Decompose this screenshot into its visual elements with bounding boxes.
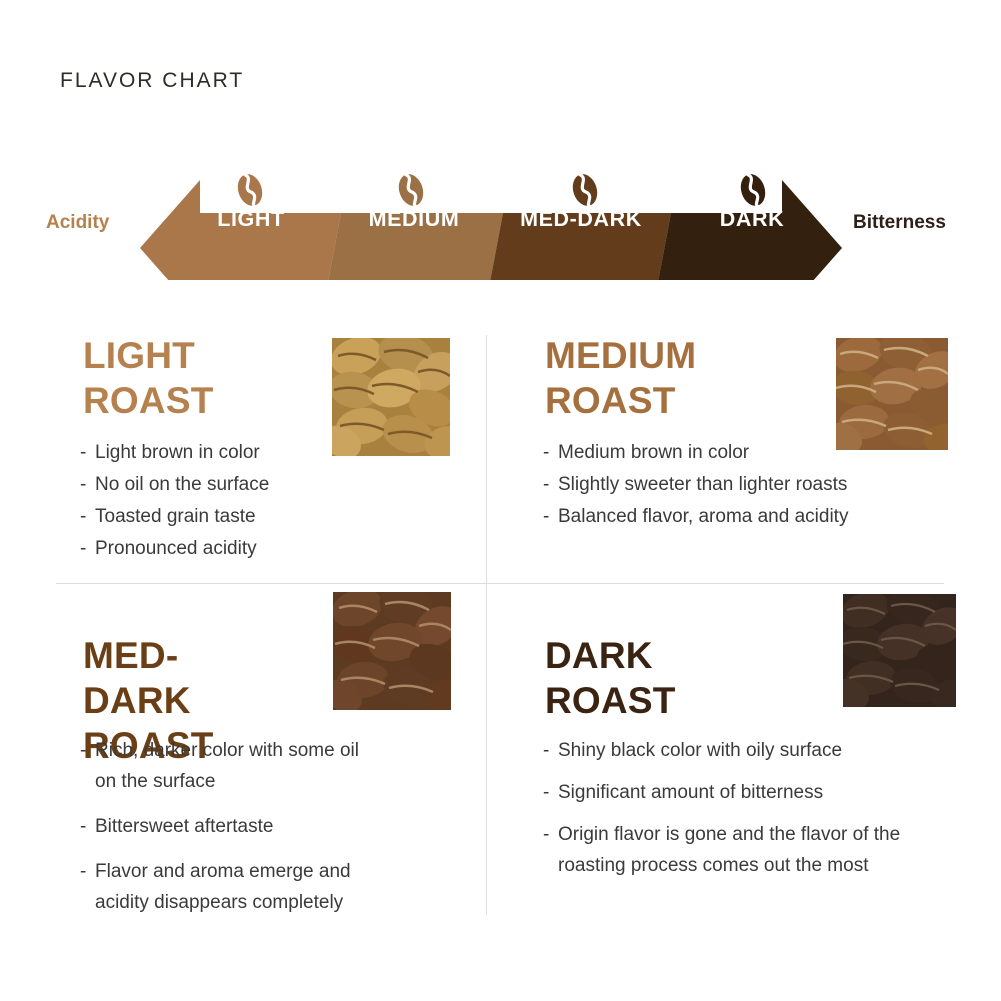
quadrant-divider-vertical (486, 335, 487, 915)
list-item: Light brown in color (80, 437, 370, 469)
list-item: Significant amount of bitterness (543, 777, 933, 808)
med-dark-roast-bullets: Rich, darker color with some oil on the … (80, 735, 370, 918)
med-dark-roast-bean-photo (333, 592, 451, 710)
coffee-bean-icon (567, 169, 603, 210)
dark-roast-bean-photo (843, 594, 956, 707)
list-item: No oil on the surface (80, 469, 370, 501)
quadrant-divider-horizontal (56, 583, 944, 584)
coffee-bean-icon (735, 169, 771, 210)
coffee-bean-icon (232, 169, 268, 210)
scale-label-medium[interactable]: MEDIUM (369, 207, 460, 232)
list-item: Origin flavor is gone and the flavor of … (543, 819, 933, 881)
list-item: Medium brown in color (543, 437, 943, 469)
axis-label-acidity: Acidity (46, 212, 109, 234)
list-item: Bittersweet aftertaste (80, 811, 370, 842)
list-item: Pronounced acidity (80, 533, 370, 565)
coffee-bean-icon (393, 169, 429, 210)
dark-roast-title: DARK ROAST (545, 633, 676, 723)
scale-label-med-dark[interactable]: MED-DARK (520, 207, 642, 232)
list-item: Shiny black color with oily surface (543, 735, 933, 766)
list-item: Toasted grain taste (80, 501, 370, 533)
roast-scale: Acidity Bitterness LIGHT MEDIUM MED-DARK… (0, 155, 1001, 280)
scale-label-light[interactable]: LIGHT (217, 207, 285, 232)
list-item: Balanced flavor, aroma and acidity (543, 501, 943, 533)
list-item: Rich, darker color with some oil on the … (80, 735, 370, 797)
list-item: Flavor and aroma emerge and acidity disa… (80, 856, 370, 918)
medium-roast-bullets: Medium brown in color Slightly sweeter t… (543, 437, 943, 533)
roast-scale-graphic (0, 155, 1001, 280)
dark-roast-bullets: Shiny black color with oily surface Sign… (543, 735, 933, 881)
axis-label-bitterness: Bitterness (853, 212, 946, 234)
light-roast-title: LIGHT ROAST (83, 333, 214, 423)
medium-roast-title: MEDIUM ROAST (545, 333, 696, 423)
light-roast-bullets: Light brown in color No oil on the surfa… (80, 437, 370, 565)
page-title: FLAVOR CHART (60, 69, 244, 93)
list-item: Slightly sweeter than lighter roasts (543, 469, 943, 501)
medium-roast-bean-photo (836, 338, 948, 450)
scale-label-dark[interactable]: DARK (720, 207, 785, 232)
